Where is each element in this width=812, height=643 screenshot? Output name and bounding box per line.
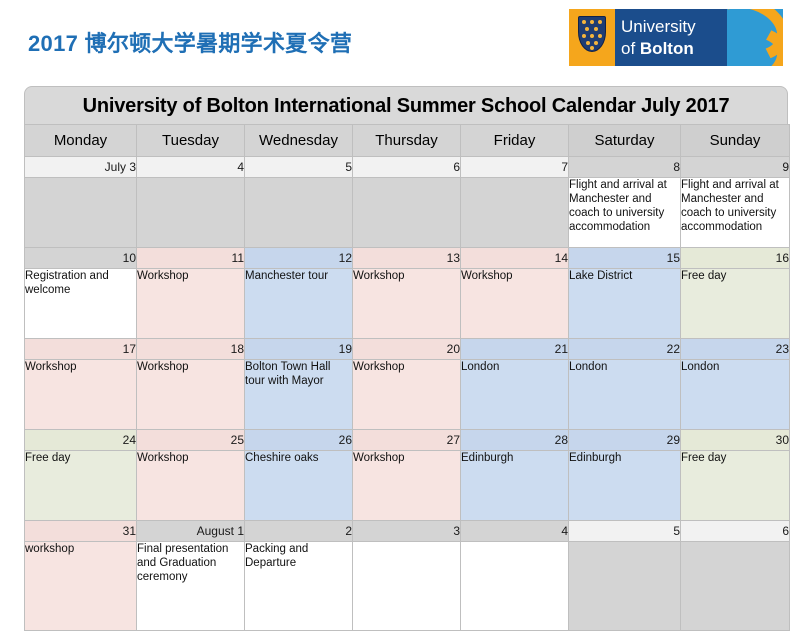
week-row-dates: 24 25 26 27 28 29 30 xyxy=(25,430,790,451)
event-cell[interactable]: Free day xyxy=(25,451,137,521)
week-row-events: workshop Final presentation and Graduati… xyxy=(25,542,790,631)
day-header-sunday: Sunday xyxy=(681,125,790,157)
date-cell[interactable]: 28 xyxy=(461,430,569,451)
event-cell[interactable]: Workshop xyxy=(461,269,569,339)
date-cell[interactable]: 11 xyxy=(137,248,245,269)
event-cell[interactable]: Edinburgh xyxy=(461,451,569,521)
event-cell[interactable]: Final presentation and Graduation ceremo… xyxy=(137,542,245,631)
date-cell[interactable]: 4 xyxy=(137,157,245,178)
date-cell[interactable]: 12 xyxy=(245,248,353,269)
page-title-chinese: 博尔顿大学暑期学术夏令营 xyxy=(85,31,353,56)
calendar-day-header-row: Monday Tuesday Wednesday Thursday Friday… xyxy=(25,125,790,157)
page-title-year: 2017 xyxy=(28,31,78,56)
logo-line-of-bolton: of Bolton xyxy=(621,39,694,59)
date-cell[interactable]: 3 xyxy=(353,521,461,542)
page-title: 2017 博尔顿大学暑期学术夏令营 xyxy=(28,26,352,58)
event-cell[interactable]: Free day xyxy=(681,451,790,521)
event-cell[interactable] xyxy=(245,178,353,248)
week-row-dates: 31 August 1 2 3 4 5 6 xyxy=(25,521,790,542)
event-cell[interactable]: Flight and arrival at Manchester and coa… xyxy=(681,178,790,248)
date-cell[interactable]: 20 xyxy=(353,339,461,360)
date-cell[interactable]: 24 xyxy=(25,430,137,451)
date-cell[interactable]: 5 xyxy=(569,521,681,542)
event-cell[interactable] xyxy=(353,542,461,631)
day-header-monday: Monday xyxy=(25,125,137,157)
date-cell[interactable]: 4 xyxy=(461,521,569,542)
date-cell[interactable]: 5 xyxy=(245,157,353,178)
calendar: University of Bolton International Summe… xyxy=(24,86,788,631)
logo-swoosh-panel xyxy=(727,9,783,66)
date-cell[interactable]: 15 xyxy=(569,248,681,269)
date-cell[interactable]: 25 xyxy=(137,430,245,451)
day-header-wednesday: Wednesday xyxy=(245,125,353,157)
date-cell[interactable]: July 3 xyxy=(25,157,137,178)
event-cell[interactable]: Workshop xyxy=(137,269,245,339)
event-cell[interactable]: Edinburgh xyxy=(569,451,681,521)
logo-of-text: of xyxy=(621,39,640,58)
date-cell[interactable]: 6 xyxy=(681,521,790,542)
event-cell[interactable]: Bolton Town Hall tour with Mayor xyxy=(245,360,353,430)
event-cell[interactable] xyxy=(461,178,569,248)
event-cell[interactable]: Workshop xyxy=(353,451,461,521)
event-cell[interactable]: Workshop xyxy=(353,269,461,339)
day-header-tuesday: Tuesday xyxy=(137,125,245,157)
week-row-dates: July 3 4 5 6 7 8 9 xyxy=(25,157,790,178)
week-row-dates: 17 18 19 20 21 22 23 xyxy=(25,339,790,360)
day-header-friday: Friday xyxy=(461,125,569,157)
week-row-events: Registration and welcome Workshop Manche… xyxy=(25,269,790,339)
event-cell[interactable]: workshop xyxy=(25,542,137,631)
day-header-thursday: Thursday xyxy=(353,125,461,157)
week-row-events: Flight and arrival at Manchester and coa… xyxy=(25,178,790,248)
event-cell[interactable]: Workshop xyxy=(137,451,245,521)
event-cell[interactable]: Registration and welcome xyxy=(25,269,137,339)
event-cell[interactable] xyxy=(353,178,461,248)
date-cell[interactable]: 2 xyxy=(245,521,353,542)
date-cell[interactable]: August 1 xyxy=(137,521,245,542)
shield-crest-icon xyxy=(578,16,606,52)
date-cell[interactable]: 10 xyxy=(25,248,137,269)
week-row-events: Workshop Workshop Bolton Town Hall tour … xyxy=(25,360,790,430)
date-cell[interactable]: 18 xyxy=(137,339,245,360)
event-cell[interactable] xyxy=(461,542,569,631)
date-cell[interactable]: 30 xyxy=(681,430,790,451)
date-cell[interactable]: 13 xyxy=(353,248,461,269)
date-cell[interactable]: 19 xyxy=(245,339,353,360)
date-cell[interactable]: 21 xyxy=(461,339,569,360)
event-cell[interactable]: Free day xyxy=(681,269,790,339)
event-cell[interactable] xyxy=(25,178,137,248)
event-cell[interactable]: Cheshire oaks xyxy=(245,451,353,521)
date-cell[interactable]: 23 xyxy=(681,339,790,360)
date-cell[interactable]: 29 xyxy=(569,430,681,451)
day-header-saturday: Saturday xyxy=(569,125,681,157)
date-cell[interactable]: 26 xyxy=(245,430,353,451)
calendar-table: Monday Tuesday Wednesday Thursday Friday… xyxy=(24,124,790,631)
date-cell[interactable]: 22 xyxy=(569,339,681,360)
event-cell[interactable]: Workshop xyxy=(137,360,245,430)
page-banner: 2017 博尔顿大学暑期学术夏令营 University of Bolton xyxy=(0,0,812,84)
event-cell[interactable] xyxy=(569,542,681,631)
calendar-title: University of Bolton International Summe… xyxy=(24,86,788,124)
week-row-events: Free day Workshop Cheshire oaks Workshop… xyxy=(25,451,790,521)
event-cell[interactable] xyxy=(681,542,790,631)
event-cell[interactable]: Packing and Departure xyxy=(245,542,353,631)
date-cell[interactable]: 17 xyxy=(25,339,137,360)
event-cell[interactable]: London xyxy=(681,360,790,430)
university-of-bolton-logo: University of Bolton xyxy=(569,9,783,66)
event-cell[interactable]: Flight and arrival at Manchester and coa… xyxy=(569,178,681,248)
date-cell[interactable]: 6 xyxy=(353,157,461,178)
logo-line-university: University xyxy=(621,17,696,37)
date-cell[interactable]: 16 xyxy=(681,248,790,269)
date-cell[interactable]: 27 xyxy=(353,430,461,451)
event-cell[interactable]: Workshop xyxy=(25,360,137,430)
date-cell[interactable]: 31 xyxy=(25,521,137,542)
week-row-dates: 10 11 12 13 14 15 16 xyxy=(25,248,790,269)
event-cell[interactable]: Lake District xyxy=(569,269,681,339)
date-cell[interactable]: 7 xyxy=(461,157,569,178)
date-cell[interactable]: 8 xyxy=(569,157,681,178)
date-cell[interactable]: 14 xyxy=(461,248,569,269)
event-cell[interactable]: London xyxy=(461,360,569,430)
event-cell[interactable]: Manchester tour xyxy=(245,269,353,339)
event-cell[interactable]: London xyxy=(569,360,681,430)
logo-bolton-text: Bolton xyxy=(640,39,694,58)
event-cell[interactable]: Workshop xyxy=(353,360,461,430)
logo-crest-panel xyxy=(569,9,615,66)
date-cell[interactable]: 9 xyxy=(681,157,790,178)
event-cell[interactable] xyxy=(137,178,245,248)
